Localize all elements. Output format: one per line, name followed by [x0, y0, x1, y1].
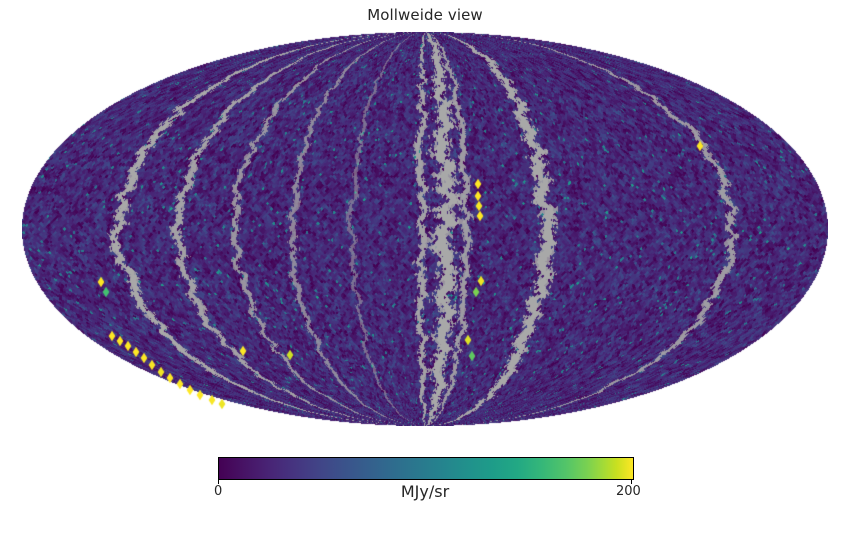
- mollweide-projection-canvas: [22, 32, 828, 426]
- sky-map: [22, 32, 828, 426]
- colorbar-gradient: [218, 457, 634, 480]
- colorbar-unit-label: MJy/sr: [218, 482, 632, 501]
- colorbar: 0 200 MJy/sr: [218, 457, 634, 480]
- page-title: Mollweide view: [0, 6, 850, 24]
- figure-canvas: Mollweide view 0 200 MJy/sr: [0, 0, 850, 540]
